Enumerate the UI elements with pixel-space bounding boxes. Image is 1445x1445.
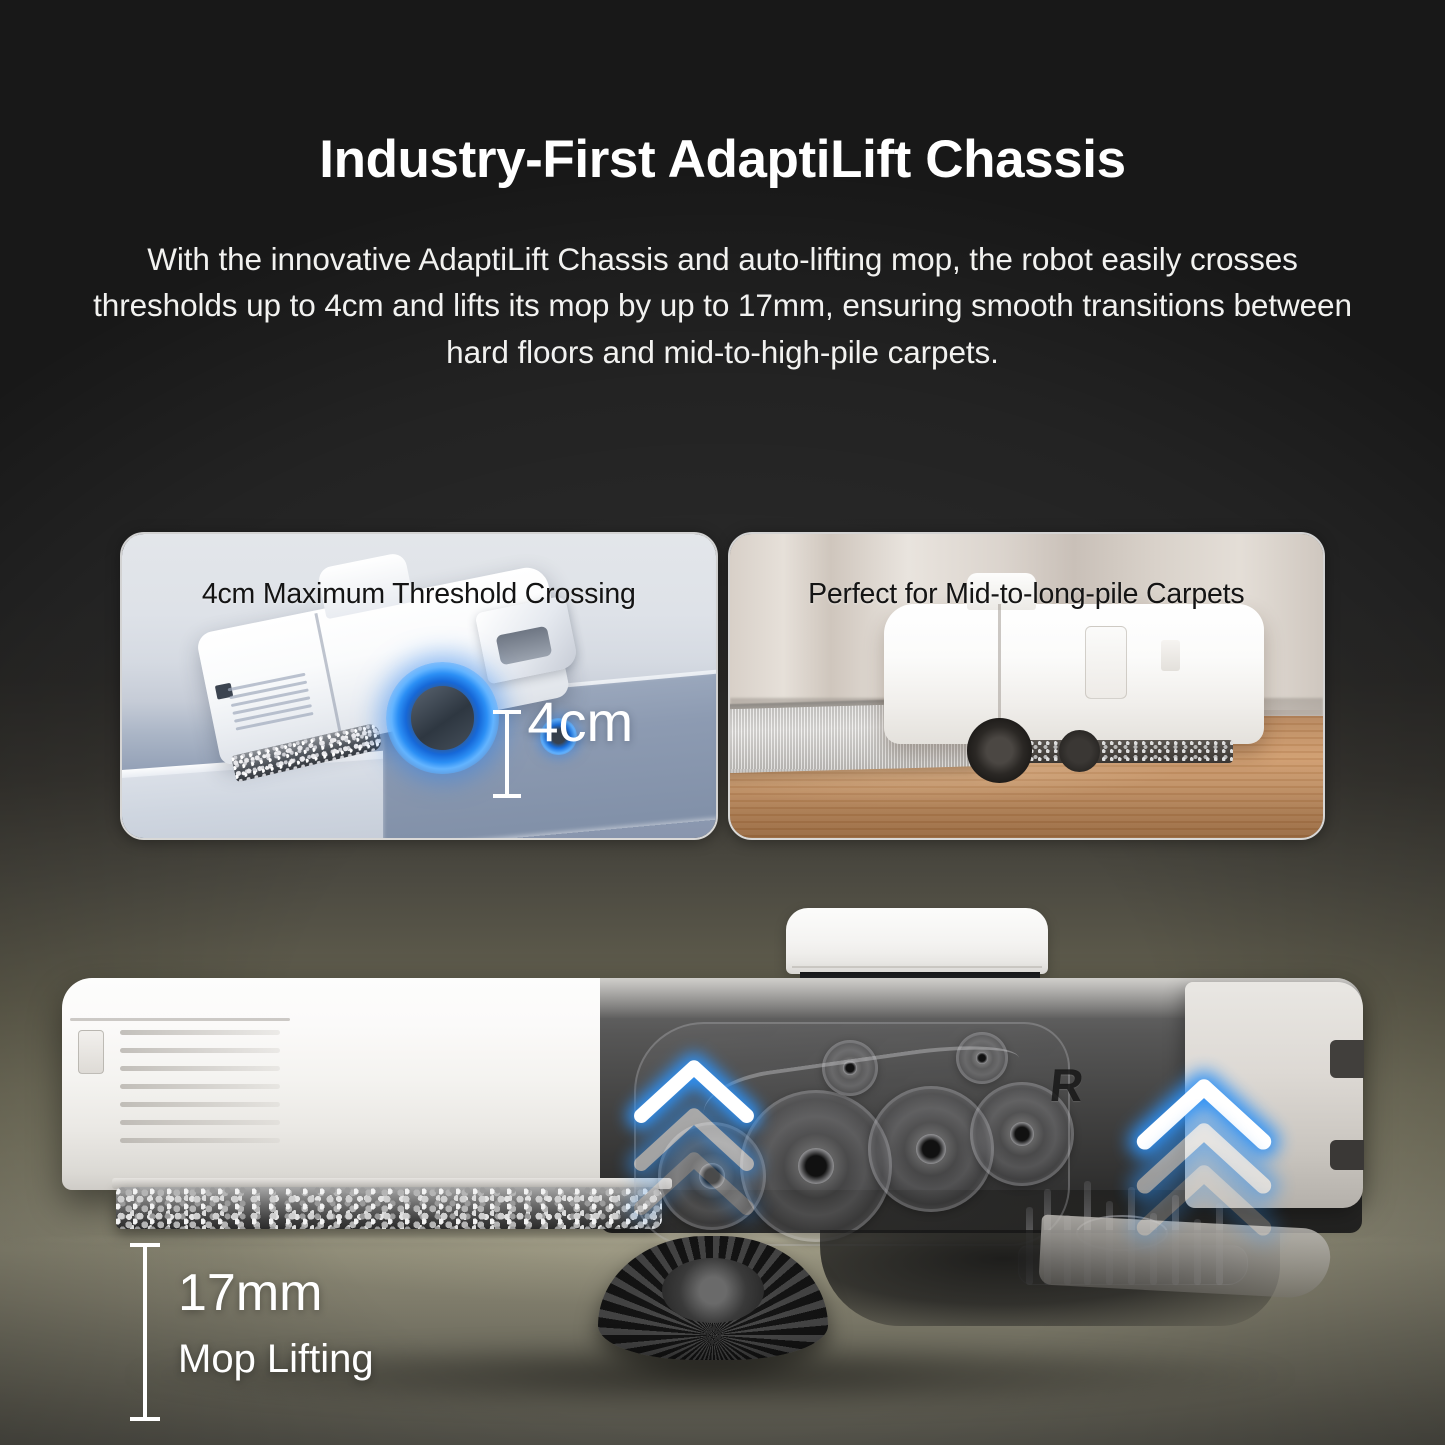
page-title: Industry-First AdaptiLift Chassis [0, 132, 1445, 188]
lift-arrow-group-left [628, 1052, 760, 1202]
panel-caption-carpet: Perfect for Mid-to-long-pile Carpets [730, 578, 1324, 611]
measure-bar [505, 710, 509, 798]
measure-value-17mm: 17mm [178, 1267, 322, 1319]
chassis-marking-r: R [1048, 1062, 1086, 1108]
lift-arrow-group-right [1130, 1070, 1278, 1232]
measure-label-4cm: 4cm [527, 694, 633, 750]
robot-side-panel [1085, 626, 1127, 699]
robot-drive-wheel [967, 718, 1032, 783]
page-description: With the innovative AdaptiLift Chassis a… [92, 236, 1353, 375]
measure-cap-bottom [493, 794, 521, 798]
panel-caption-threshold: 4cm Maximum Threshold Crossing [122, 578, 716, 611]
panel-threshold-crossing: 4cm 4cm Maximum Threshold Crossing [120, 532, 718, 840]
measure-cap-top [493, 710, 521, 714]
chevron-up-icon [1130, 1156, 1278, 1242]
hero-top-lid [786, 908, 1048, 974]
hero-side-button [78, 1030, 104, 1074]
product-feature-graphic: Industry-First AdaptiLift Chassis With t… [0, 0, 1445, 1445]
panel-carpet-performance: Perfect for Mid-to-long-pile Carpets [728, 532, 1326, 840]
hero-rear-notch-upper [1330, 1040, 1364, 1078]
hero-shell-seam [70, 1018, 290, 1021]
measure-cap-bottom [130, 1417, 160, 1421]
hero-mop-pad [116, 1187, 662, 1229]
measurement-17mm: 17mm Mop Lifting [130, 1243, 430, 1421]
feature-panel-group: 4cm 4cm Maximum Threshold Crossing [120, 532, 1325, 840]
robot-side-seam [998, 604, 1001, 727]
glowing-wheel-highlight [386, 662, 499, 775]
hero-rear-notch-lower [1330, 1140, 1364, 1170]
robot-caster-wheel [1059, 730, 1101, 772]
chevron-up-icon [628, 1144, 760, 1221]
measure-caption-mop-lifting: Mop Lifting [178, 1339, 374, 1379]
measure-cap-top [130, 1243, 160, 1247]
robot-vacuum-on-floor [884, 604, 1264, 744]
robot-side-slot [1161, 640, 1180, 671]
robot-body-side [884, 604, 1264, 744]
measure-bar [143, 1243, 147, 1421]
hero-vent-slots [120, 1030, 280, 1158]
